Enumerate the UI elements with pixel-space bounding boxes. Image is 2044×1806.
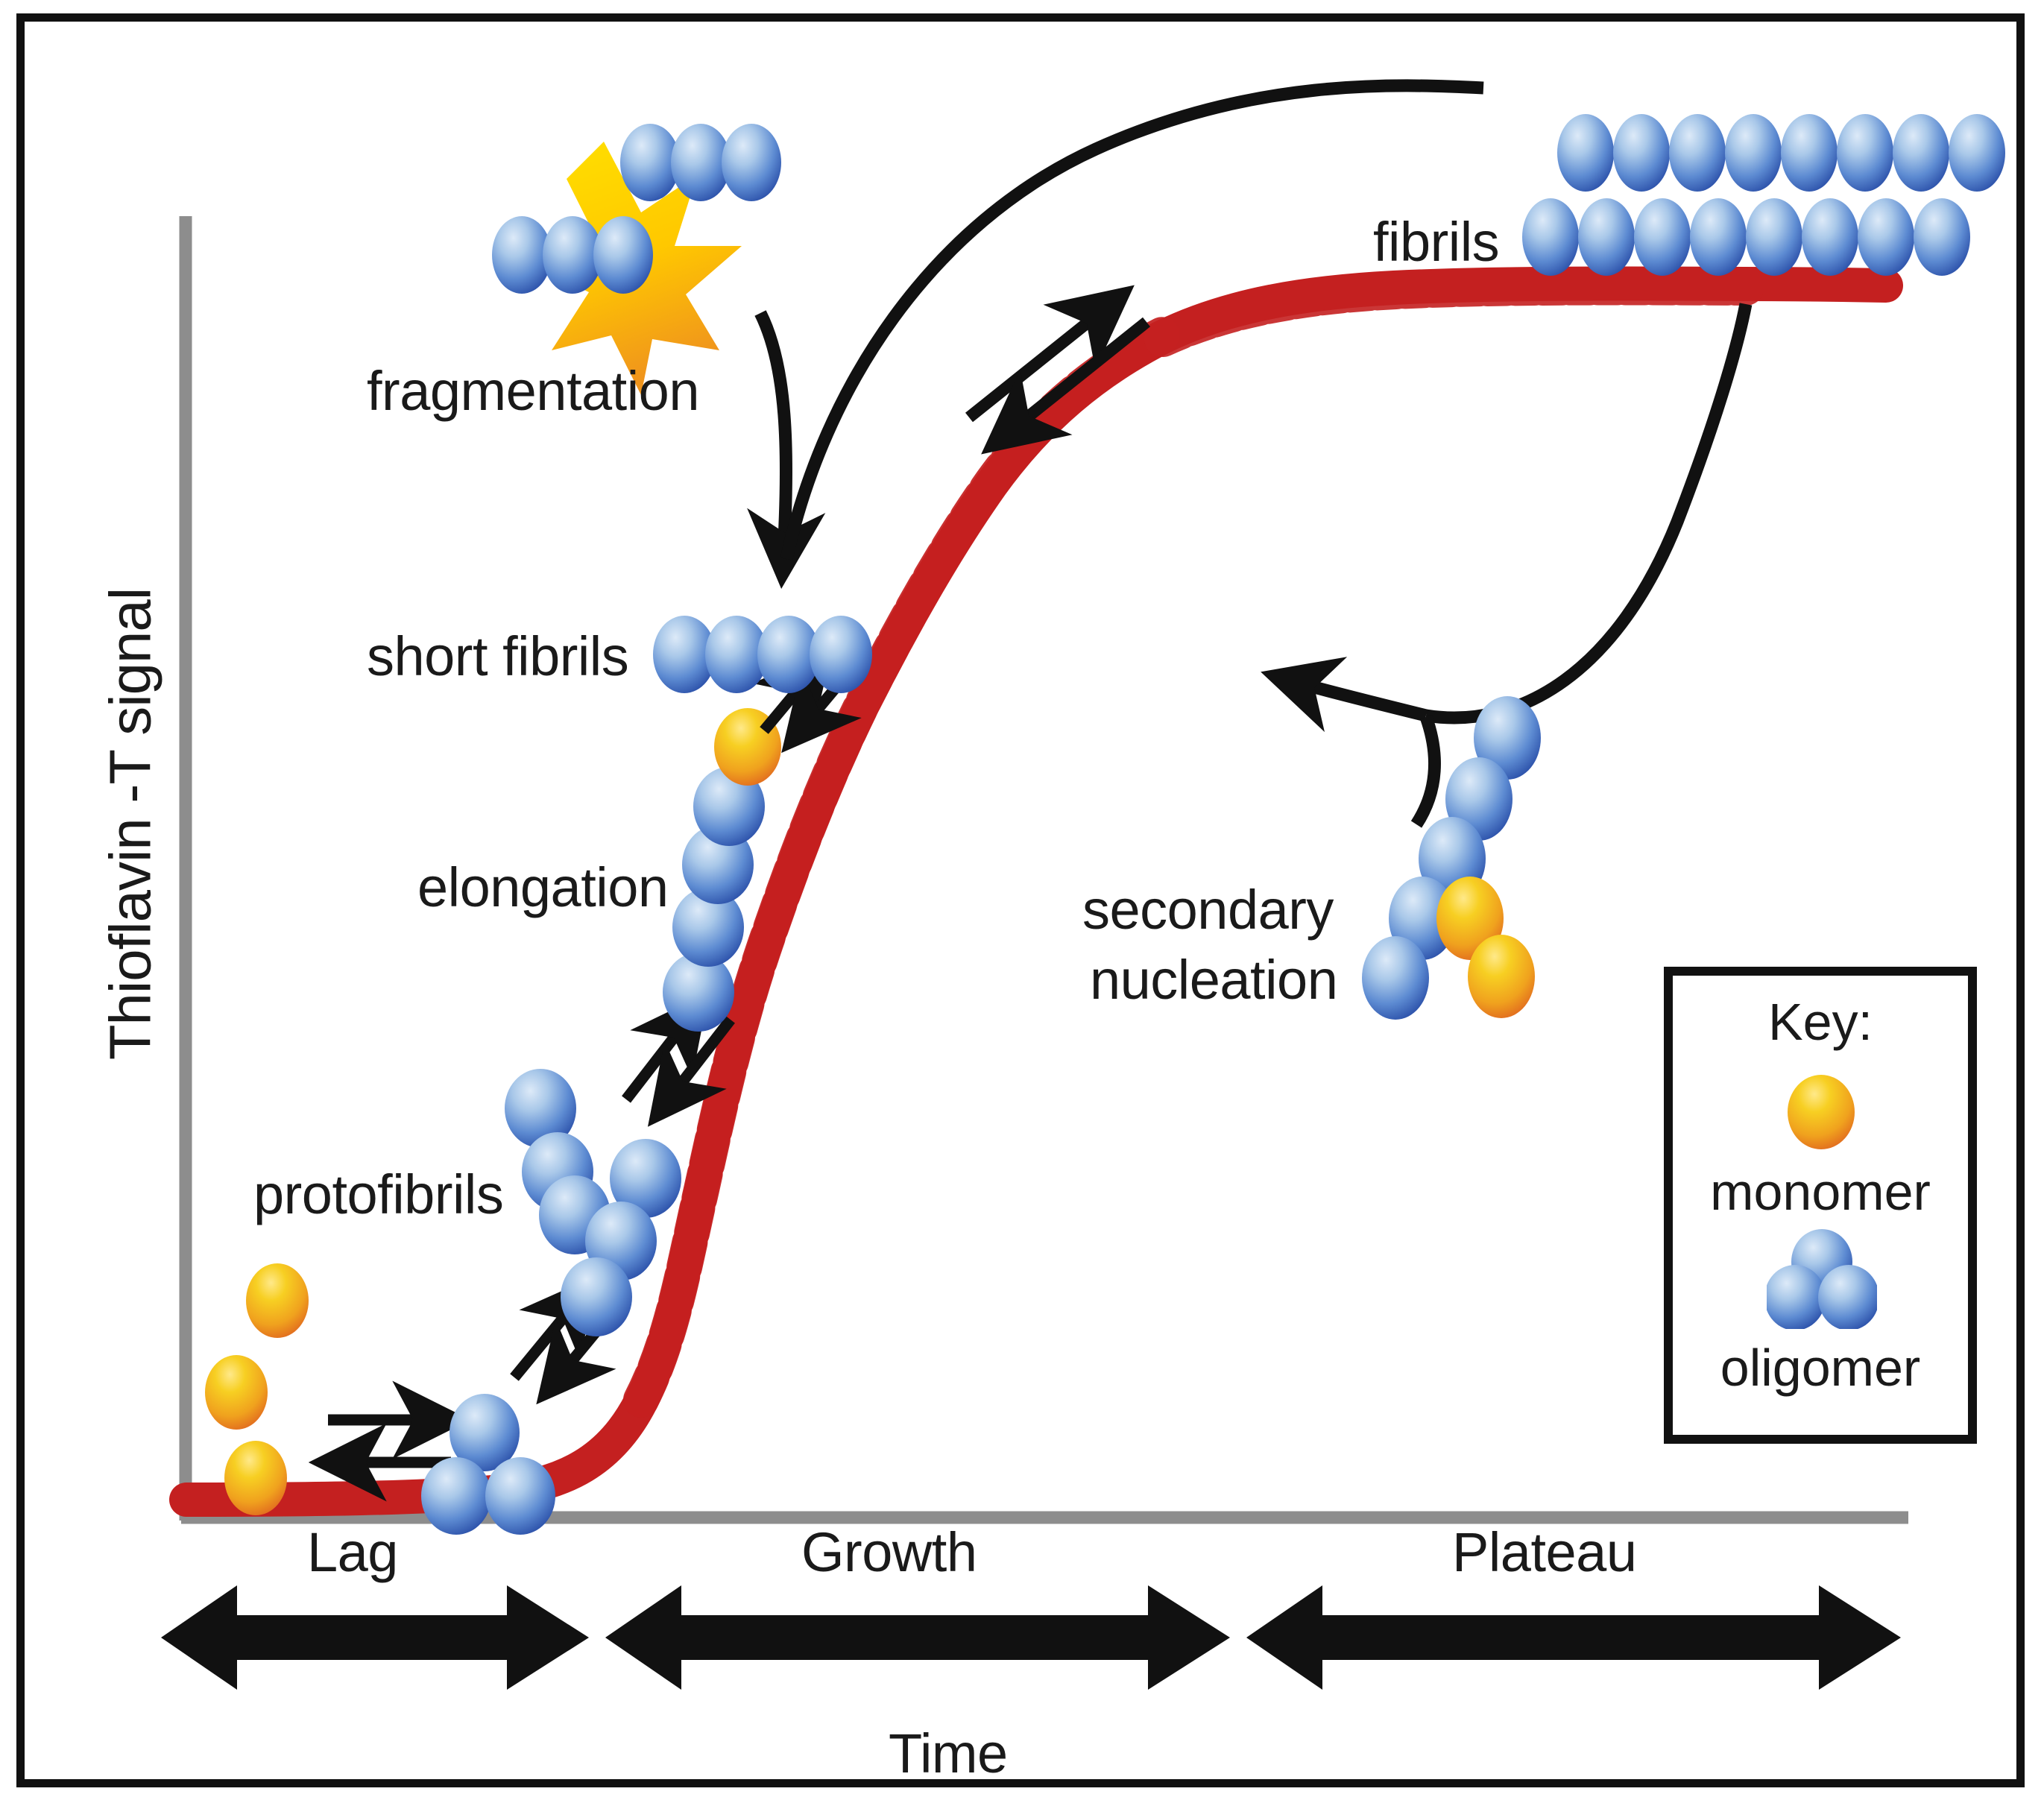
- key-legend-box: Key: monomer: [1664, 967, 1977, 1444]
- phase-arrow-growth: [605, 1585, 1230, 1690]
- fragmented-chain-upper: [620, 124, 781, 201]
- oligomer-sphere: [1578, 198, 1635, 276]
- phase-arrow-plateau: [1246, 1585, 1901, 1690]
- oligomer-sphere: [593, 216, 653, 294]
- oligomer-sphere: [485, 1457, 555, 1535]
- oligomer-sphere: [1914, 198, 1970, 276]
- equilibrium-arrow-horizontal: [328, 1420, 451, 1462]
- secondary-nucleation-branch: [1416, 717, 1434, 824]
- oligomer-sphere: [1362, 936, 1429, 1020]
- phase-label-growth: Growth: [801, 1521, 977, 1584]
- oligomer-sphere: [421, 1457, 491, 1535]
- oligomer-sphere: [722, 124, 781, 201]
- oligomer-sphere: [1746, 198, 1802, 276]
- oligomer-sphere: [1613, 114, 1670, 192]
- fragmentation-arrow: [760, 313, 786, 566]
- label-fragmentation: fragmentation: [367, 359, 699, 423]
- monomer-sphere: [246, 1263, 309, 1338]
- secondary-nucleation-feedback-arrow: [1426, 304, 1746, 718]
- label-fibrils: fibrils: [1373, 210, 1499, 274]
- fibrils-row-top: [1557, 114, 2005, 192]
- protofibril-chain: [505, 1069, 681, 1336]
- short-fibrils-chain: [653, 616, 872, 693]
- monomer-group-lag: [205, 1263, 309, 1515]
- secondary-nucleation-arrow-tail: [1282, 678, 1426, 716]
- monomer-sphere: [1468, 935, 1535, 1018]
- oligomer-sphere: [1557, 114, 1614, 192]
- y-axis-label: Thioflavin -T signal: [97, 563, 165, 1085]
- label-short-fibrils: short fibrils: [367, 625, 628, 688]
- phase-arrows: [161, 1585, 1901, 1690]
- oligomer-sphere: [1725, 114, 1782, 192]
- oligomer-sphere: [1949, 114, 2005, 192]
- fibrils-to-fragmentation-arrow: [786, 86, 1483, 559]
- key-monomer-swatch: [1782, 1071, 1861, 1153]
- secondary-nucleation-cluster: [1362, 696, 1541, 1020]
- figure-root: Thioflavin -T signal fragmentation short…: [0, 0, 2044, 1806]
- oligomer-sphere: [1858, 198, 1914, 276]
- oligomer-sphere: [1669, 114, 1726, 192]
- fibrils-row-bottom: [1522, 198, 1970, 276]
- oligomer-sphere: [1893, 114, 1949, 192]
- monomer-sphere: [205, 1355, 268, 1430]
- oligomer-sphere: [1781, 114, 1838, 192]
- label-secondary-nucleation-line1: secondary: [1082, 878, 1334, 941]
- oligomer-sphere: [810, 616, 872, 693]
- monomer-sphere: [1788, 1075, 1855, 1149]
- label-elongation: elongation: [417, 856, 669, 919]
- phase-label-plateau: Plateau: [1452, 1521, 1636, 1584]
- key-label-oligomer: oligomer: [1673, 1338, 1968, 1398]
- key-title: Key:: [1673, 992, 1968, 1052]
- phase-arrow-lag: [161, 1585, 589, 1690]
- oligomer-sphere: [1522, 198, 1579, 276]
- fragmented-chain-lower: [492, 216, 653, 294]
- label-secondary-nucleation-line2: nucleation: [1090, 948, 1337, 1011]
- oligomer-sphere: [1802, 198, 1858, 276]
- oligomer-sphere: [561, 1257, 632, 1336]
- label-protofibrils: protofibrils: [253, 1163, 503, 1226]
- phase-label-lag: Lag: [307, 1521, 398, 1584]
- key-label-monomer: monomer: [1673, 1162, 1968, 1222]
- key-oligomer-swatch: [1767, 1229, 1877, 1329]
- oligomer-sphere: [1634, 198, 1691, 276]
- x-axis-label: Time: [889, 1722, 1008, 1785]
- monomer-sphere: [224, 1441, 287, 1515]
- oligomer-sphere: [1690, 198, 1747, 276]
- oligomer-sphere: [1837, 114, 1893, 192]
